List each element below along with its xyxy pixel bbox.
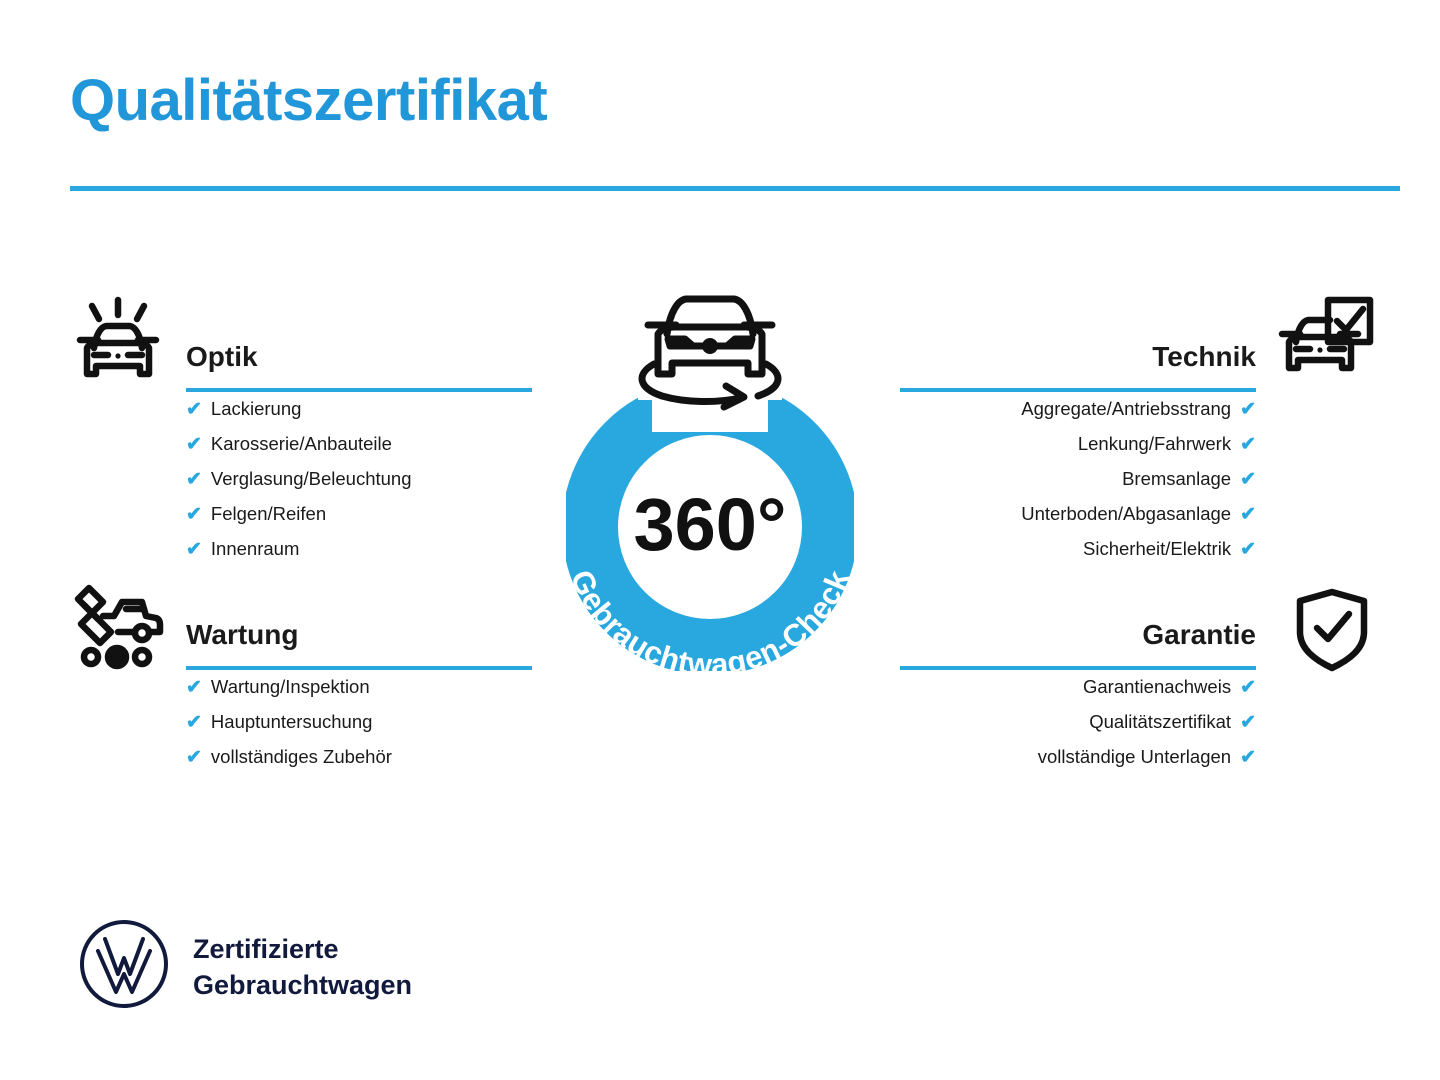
section-divider bbox=[900, 388, 1256, 392]
list-item-label: Wartung/Inspektion bbox=[211, 670, 370, 704]
section-title: Wartung bbox=[186, 618, 532, 652]
checklist-wartung: ✔ Wartung/Inspektion ✔ Hauptuntersuchung… bbox=[186, 670, 532, 775]
check-icon: ✔ bbox=[186, 741, 202, 775]
section-technik: Technik Aggregate/Antriebsstrang ✔ Lenku… bbox=[900, 340, 1256, 567]
list-item-label: Garantienachweis bbox=[1083, 670, 1231, 704]
title-divider bbox=[70, 186, 1400, 191]
list-item: ✔ Verglasung/Beleuchtung bbox=[186, 462, 532, 497]
list-item-label: Felgen/Reifen bbox=[211, 497, 326, 531]
list-item-label: Verglasung/Beleuchtung bbox=[211, 462, 412, 496]
page-title: Qualitätszertifikat bbox=[70, 72, 547, 130]
checklist-technik: Aggregate/Antriebsstrang ✔ Lenkung/Fahrw… bbox=[900, 392, 1256, 567]
360-grad-check-badge: Gebrauchtwagen-Check 360° bbox=[510, 282, 910, 700]
section-title: Technik bbox=[900, 340, 1256, 374]
check-icon: ✔ bbox=[186, 671, 202, 705]
volkswagen-logo bbox=[78, 918, 170, 1015]
section-divider bbox=[186, 388, 532, 392]
footer-brand: Zertifizierte Gebrauchtwagen bbox=[78, 918, 412, 1015]
check-icon: ✔ bbox=[1240, 393, 1256, 427]
list-item: ✔ vollständiges Zubehör bbox=[186, 740, 532, 775]
footer-brand-line2: Gebrauchtwagen bbox=[193, 967, 412, 1003]
check-icon: ✔ bbox=[1240, 533, 1256, 567]
list-item-label: vollständige Unterlagen bbox=[1038, 740, 1231, 774]
shield-check-icon bbox=[1292, 587, 1372, 673]
list-item-label: Aggregate/Antriebsstrang bbox=[1021, 392, 1231, 426]
section-wartung: Wartung ✔ Wartung/Inspektion ✔ Hauptunte… bbox=[186, 618, 532, 775]
car-service-book-icon bbox=[70, 583, 166, 671]
check-icon: ✔ bbox=[186, 393, 202, 427]
list-item: Garantienachweis ✔ bbox=[900, 670, 1256, 705]
footer-brand-text: Zertifizierte Gebrauchtwagen bbox=[193, 931, 412, 1003]
check-icon: ✔ bbox=[186, 463, 202, 497]
footer-brand-line1: Zertifizierte bbox=[193, 931, 412, 967]
car-checkbox-icon bbox=[1278, 296, 1374, 388]
list-item: Sicherheit/Elektrik ✔ bbox=[900, 532, 1256, 567]
section-divider bbox=[900, 666, 1256, 670]
section-divider bbox=[186, 666, 532, 670]
list-item: Bremsanlage ✔ bbox=[900, 462, 1256, 497]
list-item-label: Qualitätszertifikat bbox=[1089, 705, 1231, 739]
list-item: Unterboden/Abgasanlage ✔ bbox=[900, 497, 1256, 532]
list-item: ✔ Lackierung bbox=[186, 392, 532, 427]
badge-center-text: 360° bbox=[633, 483, 786, 566]
checklist-garantie: Garantienachweis ✔ Qualitätszertifikat ✔… bbox=[900, 670, 1256, 775]
section-header: Garantie bbox=[900, 618, 1256, 670]
list-item: Qualitätszertifikat ✔ bbox=[900, 705, 1256, 740]
list-item-label: Lenkung/Fahrwerk bbox=[1078, 427, 1231, 461]
list-item: ✔ Karosserie/Anbauteile bbox=[186, 427, 532, 462]
section-title: Garantie bbox=[900, 618, 1256, 652]
section-header: Wartung bbox=[186, 618, 532, 670]
section-header: Technik bbox=[900, 340, 1256, 392]
section-optik: Optik ✔ Lackierung ✔ Karosserie/Anbautei… bbox=[186, 340, 532, 567]
list-item: ✔ Hauptuntersuchung bbox=[186, 705, 532, 740]
list-item: Lenkung/Fahrwerk ✔ bbox=[900, 427, 1256, 462]
check-icon: ✔ bbox=[1240, 671, 1256, 705]
list-item: ✔ Felgen/Reifen bbox=[186, 497, 532, 532]
section-header: Optik bbox=[186, 340, 532, 392]
list-item-label: vollständiges Zubehör bbox=[211, 740, 392, 774]
list-item: ✔ Innenraum bbox=[186, 532, 532, 567]
check-icon: ✔ bbox=[186, 706, 202, 740]
check-icon: ✔ bbox=[1240, 741, 1256, 775]
check-icon: ✔ bbox=[1240, 428, 1256, 462]
check-icon: ✔ bbox=[186, 533, 202, 567]
car-shine-icon bbox=[70, 296, 166, 392]
check-icon: ✔ bbox=[186, 498, 202, 532]
list-item-label: Lackierung bbox=[211, 392, 302, 426]
list-item: Aggregate/Antriebsstrang ✔ bbox=[900, 392, 1256, 427]
check-icon: ✔ bbox=[186, 428, 202, 462]
list-item: vollständige Unterlagen ✔ bbox=[900, 740, 1256, 775]
section-garantie: Garantie Garantienachweis ✔ Qualitätszer… bbox=[900, 618, 1256, 775]
list-item-label: Bremsanlage bbox=[1122, 462, 1231, 496]
check-icon: ✔ bbox=[1240, 463, 1256, 497]
list-item-label: Hauptuntersuchung bbox=[211, 705, 372, 739]
check-icon: ✔ bbox=[1240, 706, 1256, 740]
section-title: Optik bbox=[186, 340, 532, 374]
list-item-label: Innenraum bbox=[211, 532, 299, 566]
list-item-label: Sicherheit/Elektrik bbox=[1083, 532, 1231, 566]
list-item: ✔ Wartung/Inspektion bbox=[186, 670, 532, 705]
list-item-label: Unterboden/Abgasanlage bbox=[1021, 497, 1231, 531]
checklist-optik: ✔ Lackierung ✔ Karosserie/Anbauteile ✔ V… bbox=[186, 392, 532, 567]
check-icon: ✔ bbox=[1240, 498, 1256, 532]
list-item-label: Karosserie/Anbauteile bbox=[211, 427, 392, 461]
